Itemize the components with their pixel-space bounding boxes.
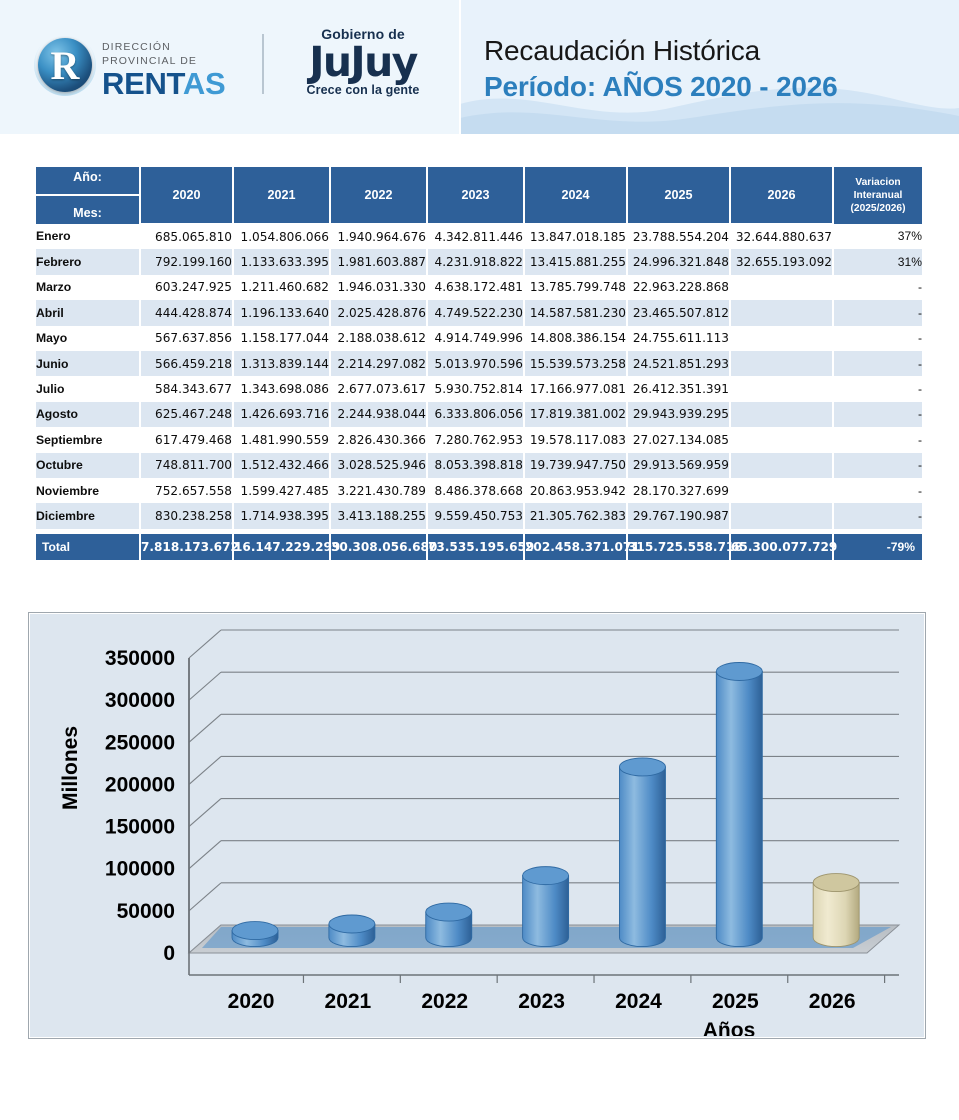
cell-2023: 4.914.749.996 (427, 326, 524, 351)
cell-2020: 584.343.677 (140, 376, 233, 401)
cell-2022: 1.940.964.676 (330, 224, 427, 250)
y-axis-title: Millones (59, 726, 82, 810)
cell-variacion: - (833, 478, 922, 503)
cell-2021: 1.158.177.044 (233, 326, 330, 351)
header-variacion-interanual: Variacion Interanual (2025/2026) (833, 167, 922, 224)
x-axis-tick-label: 2021 (325, 990, 372, 1013)
cell-2023: 4.749.522.230 (427, 300, 524, 325)
total-2020: 7.818.173.672 (140, 534, 233, 560)
header-year-2022: 2022 (330, 167, 427, 224)
page-title-line2: Período: AÑOS 2020 - 2026 (484, 69, 954, 105)
chart-panel: 0500001000001500002000002500003000003500… (28, 612, 926, 1039)
cell-variacion: 31% (833, 249, 922, 274)
cell-2020: 567.637.856 (140, 326, 233, 351)
cell-2024: 19.739.947.750 (524, 453, 627, 478)
row-month-label: Noviembre (36, 478, 140, 503)
banner-divider (459, 0, 461, 134)
logo-rentas-line1: DIRECCIÓN PROVINCIAL DE (102, 40, 248, 68)
table-row: Febrero792.199.1601.133.633.3951.981.603… (36, 249, 922, 274)
header-year-2024: 2024 (524, 167, 627, 224)
cell-2026 (730, 326, 833, 351)
table-row: Diciembre830.238.2581.714.938.3953.413.1… (36, 503, 922, 528)
total-variacion: -79% (833, 534, 922, 560)
cell-2022: 1.946.031.330 (330, 275, 427, 300)
row-month-label: Abril (36, 300, 140, 325)
y-axis-tick-label: 300000 (105, 689, 175, 712)
cell-variacion: - (833, 503, 922, 528)
cell-2025: 24.996.321.848 (627, 249, 730, 274)
logo-jujuy-bottom: Crece con la gente (278, 82, 448, 98)
cell-2024: 19.578.117.083 (524, 427, 627, 452)
cell-2020: 603.247.925 (140, 275, 233, 300)
row-month-label: Mayo (36, 326, 140, 351)
cell-2020: 566.459.218 (140, 351, 233, 376)
total-2021: 16.147.229.299 (233, 534, 330, 560)
cell-2025: 24.521.851.293 (627, 351, 730, 376)
total-2024: 202.458.371.071 (524, 534, 627, 560)
cell-2023: 7.280.762.953 (427, 427, 524, 452)
page-title-line1: Recaudación Histórica (484, 33, 954, 69)
cell-2023: 8.486.378.668 (427, 478, 524, 503)
row-month-label: Diciembre (36, 503, 140, 528)
row-month-label: Octubre (36, 453, 140, 478)
header-year-2021: 2021 (233, 167, 330, 224)
cell-2022: 3.221.430.789 (330, 478, 427, 503)
cell-2026 (730, 453, 833, 478)
cell-2021: 1.512.432.466 (233, 453, 330, 478)
cell-2021: 1.211.460.682 (233, 275, 330, 300)
logo-jujuy: Gobierno de JuJuy Crece con la gente (278, 26, 448, 108)
table-row: Octubre748.811.7001.512.432.4663.028.525… (36, 453, 922, 478)
y-axis-tick-label: 200000 (105, 773, 175, 796)
bar-2024 (619, 758, 665, 947)
cell-2024: 17.819.381.002 (524, 402, 627, 427)
cell-2023: 8.053.398.818 (427, 453, 524, 478)
cell-2023: 5.013.970.596 (427, 351, 524, 376)
cell-variacion: - (833, 275, 922, 300)
cell-2022: 2.214.297.082 (330, 351, 427, 376)
total-2026: 65.300.077.729 (730, 534, 833, 560)
cell-2020: 625.467.248 (140, 402, 233, 427)
logo-rentas: DIRECCIÓN PROVINCIAL DE RENTAS (38, 36, 248, 94)
cell-2025: 29.767.190.987 (627, 503, 730, 528)
header-mes-label: Mes: (36, 206, 139, 220)
logo-rentas-line2-b: AS (183, 66, 225, 101)
recaudacion-table: Año: Mes: 2020 2021 2022 2023 2024 2025 … (36, 167, 922, 560)
table-row: Julio584.343.6771.343.698.0862.677.073.6… (36, 376, 922, 401)
cell-2020: 830.238.258 (140, 503, 233, 528)
cell-variacion: - (833, 427, 922, 452)
total-2022: 30.308.056.680 (330, 534, 427, 560)
cell-2025: 29.913.569.959 (627, 453, 730, 478)
cell-2025: 23.788.554.204 (627, 224, 730, 250)
y-axis-tick-label: 50000 (117, 900, 175, 923)
cell-2021: 1.481.990.559 (233, 427, 330, 452)
variacion-line1: Variacion (834, 176, 922, 189)
bar-chart-3d: 0500001000001500002000002500003000003500… (29, 613, 925, 1036)
cell-2026 (730, 503, 833, 528)
cell-2022: 3.028.525.946 (330, 453, 427, 478)
cell-2021: 1.343.698.086 (233, 376, 330, 401)
cell-2021: 1.714.938.395 (233, 503, 330, 528)
cell-2026 (730, 478, 833, 503)
logo-rentas-line2-a: RENT (102, 66, 183, 101)
x-axis-tick-label: 2023 (518, 990, 565, 1013)
cell-2023: 4.342.811.446 (427, 224, 524, 250)
cell-2025: 29.943.939.295 (627, 402, 730, 427)
cell-variacion: - (833, 376, 922, 401)
cell-variacion: 37% (833, 224, 922, 250)
table-row: Noviembre752.657.5581.599.427.4853.221.4… (36, 478, 922, 503)
x-axis-tick-label: 2020 (228, 990, 275, 1013)
header-year-2026: 2026 (730, 167, 833, 224)
x-axis-tick-label: 2025 (712, 990, 759, 1013)
row-month-label: Junio (36, 351, 140, 376)
cell-2024: 13.847.018.185 (524, 224, 627, 250)
cell-2020: 444.428.874 (140, 300, 233, 325)
bar-2025 (716, 662, 762, 946)
page-title: Recaudación Histórica Período: AÑOS 2020… (484, 33, 954, 105)
cell-2025: 23.465.507.812 (627, 300, 730, 325)
cell-2021: 1.133.633.395 (233, 249, 330, 274)
cell-2022: 3.413.188.255 (330, 503, 427, 528)
cell-2021: 1.599.427.485 (233, 478, 330, 503)
cell-2026 (730, 376, 833, 401)
table-row: Enero685.065.8101.054.806.0661.940.964.6… (36, 224, 922, 250)
cell-2026: 32.655.193.092 (730, 249, 833, 274)
cell-2020: 748.811.700 (140, 453, 233, 478)
cell-2022: 2.677.073.617 (330, 376, 427, 401)
total-label: Total (36, 534, 140, 560)
header-corner-divider (36, 194, 139, 196)
cell-2021: 1.313.839.144 (233, 351, 330, 376)
logo-separator (262, 34, 264, 94)
table-row: Marzo603.247.9251.211.460.6821.946.031.3… (36, 275, 922, 300)
cell-variacion: - (833, 300, 922, 325)
row-month-label: Agosto (36, 402, 140, 427)
cell-2024: 13.785.799.748 (524, 275, 627, 300)
total-2025: 315.725.558.718 (627, 534, 730, 560)
header-year-2025: 2025 (627, 167, 730, 224)
header-anio-label: Año: (36, 170, 139, 184)
cell-2025: 24.755.611.113 (627, 326, 730, 351)
cell-2023: 6.333.806.056 (427, 402, 524, 427)
x-axis-tick-label: 2024 (615, 990, 662, 1013)
row-month-label: Enero (36, 224, 140, 250)
cell-variacion: - (833, 453, 922, 478)
x-axis-tick-label: 2026 (809, 990, 856, 1013)
y-axis-tick-label: 100000 (105, 858, 175, 881)
cell-2022: 2.188.038.612 (330, 326, 427, 351)
row-month-label: Febrero (36, 249, 140, 274)
cell-2023: 4.638.172.481 (427, 275, 524, 300)
y-axis-tick-label: 0 (163, 942, 175, 965)
cell-2023: 5.930.752.814 (427, 376, 524, 401)
header-year-2023: 2023 (427, 167, 524, 224)
cell-2025: 27.027.134.085 (627, 427, 730, 452)
bar-2022 (426, 903, 472, 947)
cell-variacion: - (833, 351, 922, 376)
cell-2026 (730, 351, 833, 376)
cell-2024: 15.539.573.258 (524, 351, 627, 376)
table-row: Mayo567.637.8561.158.177.0442.188.038.61… (36, 326, 922, 351)
cell-2026: 32.644.880.637 (730, 224, 833, 250)
cell-2021: 1.426.693.716 (233, 402, 330, 427)
cell-2026 (730, 300, 833, 325)
cell-2021: 1.196.133.640 (233, 300, 330, 325)
recaudacion-table-wrapper: Año: Mes: 2020 2021 2022 2023 2024 2025 … (36, 167, 922, 560)
variacion-line3: (2025/2026) (834, 202, 922, 215)
cell-2025: 22.963.228.868 (627, 275, 730, 300)
cell-2022: 2.244.938.044 (330, 402, 427, 427)
bar-2026 (813, 874, 859, 947)
table-row: Junio566.459.2181.313.839.1442.214.297.0… (36, 351, 922, 376)
cell-2024: 20.863.953.942 (524, 478, 627, 503)
header-corner-anio-mes: Año: Mes: (36, 167, 140, 224)
table-row: Septiembre617.479.4681.481.990.5592.826.… (36, 427, 922, 452)
y-axis-tick-label: 250000 (105, 731, 175, 754)
cell-2024: 14.808.386.154 (524, 326, 627, 351)
cell-2026 (730, 402, 833, 427)
cell-2022: 1.981.603.887 (330, 249, 427, 274)
bar-2021 (329, 915, 375, 947)
variacion-line2: Interanual (834, 189, 922, 202)
table-header: Año: Mes: 2020 2021 2022 2023 2024 2025 … (36, 167, 922, 224)
cell-2025: 26.412.351.391 (627, 376, 730, 401)
row-month-label: Septiembre (36, 427, 140, 452)
cell-2022: 2.826.430.366 (330, 427, 427, 452)
cell-2026 (730, 275, 833, 300)
cell-2024: 14.587.581.230 (524, 300, 627, 325)
rentas-r-mark-icon (38, 38, 92, 92)
cell-2023: 4.231.918.822 (427, 249, 524, 274)
x-axis-tick-label: 2022 (421, 990, 468, 1013)
cell-2024: 13.415.881.255 (524, 249, 627, 274)
row-month-label: Marzo (36, 275, 140, 300)
table-row: Agosto625.467.2481.426.693.7162.244.938.… (36, 402, 922, 427)
total-2023: 73.535.195.659 (427, 534, 524, 560)
cell-2025: 28.170.327.699 (627, 478, 730, 503)
bar-2023 (523, 867, 569, 947)
cell-2020: 792.199.160 (140, 249, 233, 274)
cell-2021: 1.054.806.066 (233, 224, 330, 250)
table-body: Enero685.065.8101.054.806.0661.940.964.6… (36, 224, 922, 560)
header-year-2020: 2020 (140, 167, 233, 224)
logo-rentas-text: DIRECCIÓN PROVINCIAL DE RENTAS (102, 40, 248, 100)
x-axis-title: Años (703, 1019, 756, 1036)
cell-2023: 9.559.450.753 (427, 503, 524, 528)
y-axis-tick-label: 150000 (105, 816, 175, 839)
cell-2020: 752.657.558 (140, 478, 233, 503)
cell-variacion: - (833, 402, 922, 427)
y-axis-tick-label: 350000 (105, 647, 175, 670)
row-month-label: Julio (36, 376, 140, 401)
cell-2026 (730, 427, 833, 452)
cell-2022: 2.025.428.876 (330, 300, 427, 325)
cell-variacion: - (833, 326, 922, 351)
cell-2020: 685.065.810 (140, 224, 233, 250)
cell-2024: 21.305.762.383 (524, 503, 627, 528)
table-row: Abril444.428.8741.196.133.6402.025.428.8… (36, 300, 922, 325)
bar-2020 (232, 922, 278, 947)
header-banner: DIRECCIÓN PROVINCIAL DE RENTAS Gobierno … (0, 0, 959, 134)
cell-2020: 617.479.468 (140, 427, 233, 452)
logo-jujuy-main: JuJuy (278, 42, 448, 82)
cell-2024: 17.166.977.081 (524, 376, 627, 401)
table-total-row: Total7.818.173.67216.147.229.29930.308.0… (36, 534, 922, 560)
